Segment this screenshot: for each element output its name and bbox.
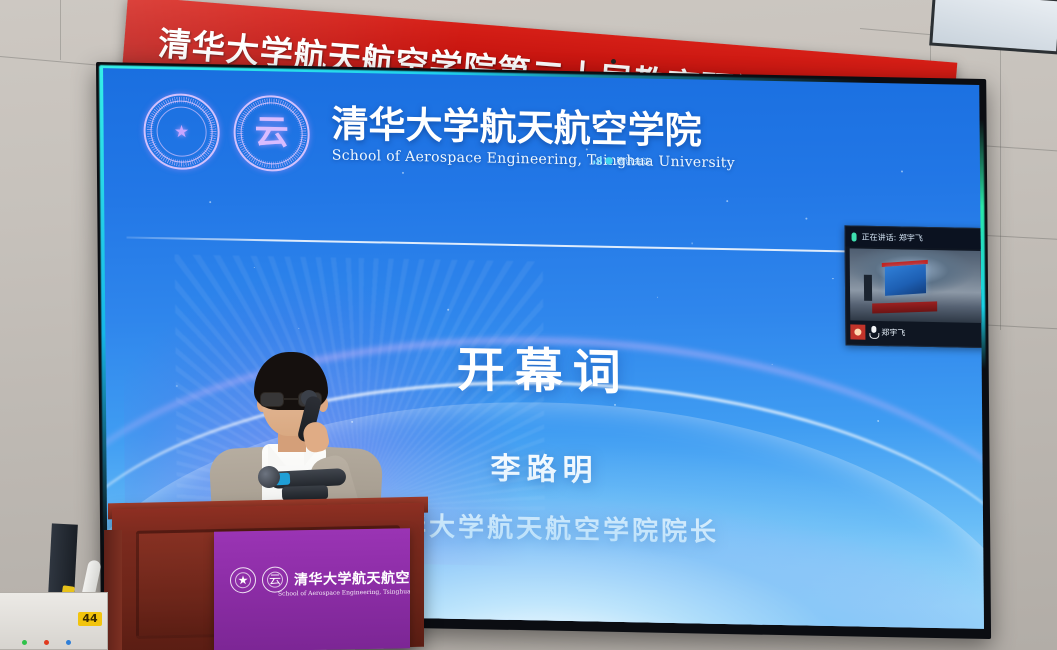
aerospace-school-seal-icon: 云: [233, 95, 310, 172]
pip-remote-speaker-column: [863, 275, 871, 301]
equipment-led-red: [44, 640, 49, 645]
star-dot: [254, 267, 256, 269]
equipment-number-badge: 44: [78, 612, 102, 626]
equipment-led-green: [22, 640, 27, 645]
podium-tsinghua-seal-icon: ★: [230, 567, 256, 593]
star-dot: [657, 296, 659, 298]
seal-star-glyph: ★: [174, 123, 189, 140]
signal-bars-icon: [593, 156, 601, 164]
microphone-icon[interactable]: [869, 326, 877, 338]
pip-status-bar: 正在讲话: 郑宇飞: [845, 226, 984, 249]
mic-active-indicator-icon: [852, 232, 857, 241]
podium-aerospace-seal-icon: 云: [262, 566, 288, 592]
podium-sign-title-cn: 清华大学航天航空学院: [294, 567, 410, 590]
pip-remote-screen: [885, 264, 926, 296]
slide-header: ★ 云 清华大学航天航空学院 School of Aerospace Engin…: [143, 93, 735, 180]
pip-video-feed[interactable]: [850, 248, 984, 323]
banner-pin: [611, 59, 616, 64]
pip-participant-name: 郑宇飞: [881, 327, 905, 338]
wall-seam: [60, 0, 61, 60]
tencent-meeting-logo-icon: [605, 157, 612, 165]
tencent-meeting-watermark: 腾讯会议: [593, 154, 651, 167]
slide-header-title-cn: 清华大学航天航空学院: [331, 106, 734, 153]
star-dot: [805, 218, 807, 220]
equipment-led-blue: [66, 640, 71, 645]
seal-bird-glyph: 云: [254, 115, 288, 150]
star-dot: [901, 170, 903, 172]
star-dot: [726, 200, 728, 202]
podium-sign: ★ 云 清华大学航天航空学院 School of Aerospace Engin…: [214, 528, 410, 650]
avatar: [850, 324, 865, 339]
tencent-meeting-label: 腾讯会议: [616, 154, 651, 167]
video-conference-pip-panel[interactable]: 正在讲话: 郑宇飞 郑宇飞: [844, 225, 984, 348]
pip-remote-stage: [872, 302, 937, 314]
star-dot: [447, 309, 449, 311]
tsinghua-university-seal-icon: ★: [143, 93, 220, 170]
slide-header-text: 清华大学航天航空学院 School of Aerospace Engineeri…: [331, 106, 735, 172]
star-dot: [692, 243, 694, 245]
pip-status-label: 正在讲话: 郑宇飞: [862, 231, 923, 243]
star-dot: [209, 201, 211, 203]
ceiling-light-panel: [929, 0, 1057, 54]
screenshot-root: 清华大学航天航空学院第二十届教育研讨会暨研究生学术论坛 ★ 云: [0, 0, 1057, 650]
star-dot: [832, 278, 834, 280]
pip-participant-bar: 郑宇飞: [850, 322, 984, 343]
